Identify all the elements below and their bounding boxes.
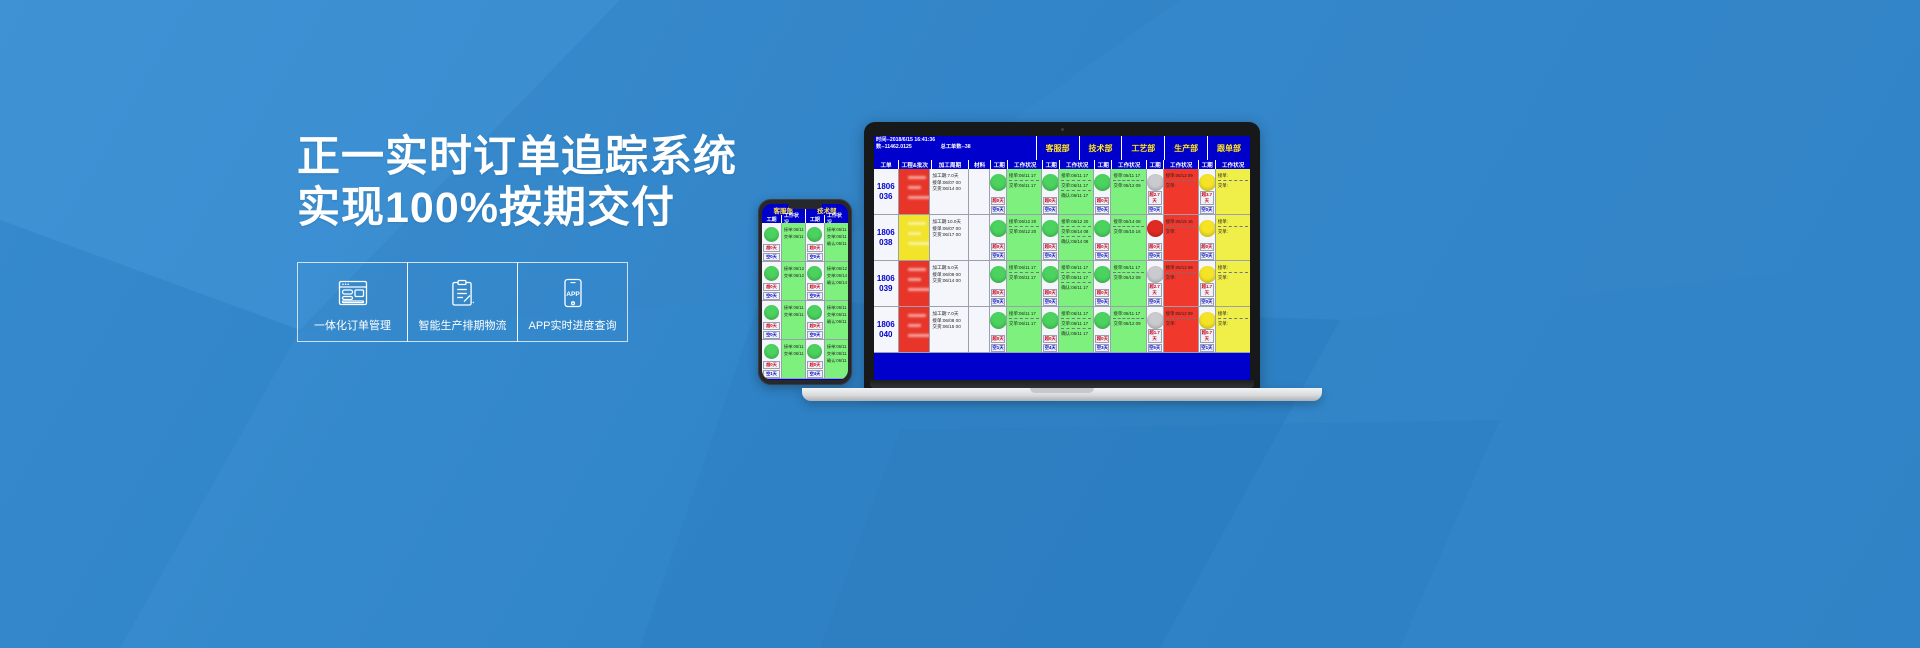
headline-line-2: 实现100%按期交付 <box>297 183 717 234</box>
phone-dept-1-status-cell[interactable]: 接单:06/11 17交单:06/11 17确认:06/11 17 <box>824 301 848 339</box>
status-dot-icon <box>1147 174 1163 191</box>
idle-badge: 空0天 <box>1043 206 1057 214</box>
overdue-badge: 超0天 <box>1043 243 1057 251</box>
headline-line-1: 正一实时订单追踪系统 <box>297 132 717 183</box>
phone-subcol-st-1: 工作状况 <box>824 215 848 223</box>
idle-badge: 空1天 <box>991 344 1005 352</box>
duration-tags: 超0天空0天 <box>990 289 1006 307</box>
status-line-2: 确认:06/14 08 <box>827 279 846 286</box>
board-header: 时间--2018/6/15 16:41:36 数--11462.0125 总工单… <box>874 136 1250 160</box>
status-line-1: 交单:06/11 17 <box>1009 274 1039 281</box>
project-batch-cell <box>898 215 930 260</box>
status-divider <box>1061 272 1091 273</box>
overdue-badge: 超0天 <box>763 244 780 252</box>
dept-3-duration-cell: 超0天空0天 <box>1146 215 1163 260</box>
overdue-badge: 超1.7天 <box>1148 329 1162 343</box>
board-subcol-0: 工单 <box>874 160 898 169</box>
overdue-badge: 超3.7天 <box>1200 191 1214 205</box>
status-dot-icon <box>1199 174 1215 191</box>
phone-screen: 客服部 技术部 工期 工作状况 工期 工作状况 超0天空0天接单:06/11 1… <box>762 204 848 380</box>
work-order-prefix: 1806 <box>877 274 895 284</box>
overdue-badge: 超0天 <box>1200 243 1214 251</box>
cycle-line-2: 交货:06/17 00 <box>932 232 965 239</box>
status-line-1: 交单: <box>1166 320 1196 327</box>
status-dot-icon <box>990 220 1006 237</box>
status-line-0: 接单:06/11 17 <box>1061 264 1091 271</box>
material-cell <box>968 169 989 214</box>
status-line-0: 接单:06/11 17 <box>1009 310 1039 317</box>
status-line-2: 确认:06/11 17 <box>827 357 846 364</box>
phone-dept-0-status-cell[interactable]: 接单:06/11 17交单:06/11 17 <box>781 340 805 378</box>
dept-0-status-cell[interactable]: 接单:06/12 20交单:06/12 20 <box>1006 215 1041 260</box>
dept-4-status-cell[interactable]: 接单:交单: <box>1215 307 1250 352</box>
status-line-2: 确认:06/14 08 <box>1061 238 1091 245</box>
duration-tags: 超1.7天空0天 <box>1199 283 1215 307</box>
overdue-badge: 超2.7天 <box>1148 191 1162 205</box>
work-order-suffix: 038 <box>879 238 892 248</box>
phone-subcol-gq-1: 工期 <box>805 215 824 223</box>
status-line-1: 交单: <box>1218 274 1248 281</box>
status-divider <box>1113 272 1143 273</box>
status-dot-icon <box>1147 266 1163 283</box>
redacted-text-icon <box>899 261 930 306</box>
phone-app-icon: APP <box>562 276 584 310</box>
dept-header-customer-service: 客服部 <box>1036 136 1079 160</box>
board-dept-4-sub-1: 工作状况 <box>1215 160 1250 169</box>
idle-badge: 空0天 <box>763 253 780 261</box>
dept-3-duration-cell: 超1.7天空5天 <box>1146 307 1163 352</box>
status-line-0: 接单:06/14 08 <box>1113 218 1143 225</box>
overdue-badge: 超0天 <box>991 243 1005 251</box>
phone-row[interactable]: 超0天空0天接单:06/11 17交单:06/11 17超0天空0天接单:06/… <box>762 223 848 262</box>
board-dept-2-sub-1: 工作状况 <box>1111 160 1146 169</box>
phone-dept-1-duration-cell: 超0天空0天 <box>805 301 824 339</box>
laptop-base <box>802 388 1322 401</box>
duration-tags: 超0天空0天 <box>762 283 781 301</box>
status-line-0: 接单:06/12 09 <box>1166 172 1196 179</box>
dept-2-duration-cell: 超0天空0天 <box>1093 261 1110 306</box>
dept-3-duration-cell: 超2.7天空0天 <box>1146 261 1163 306</box>
dept-0-duration-cell: 超0天空0天 <box>989 169 1006 214</box>
status-dot-icon <box>764 305 779 320</box>
duration-tags: 超3.7天空0天 <box>1199 191 1215 215</box>
dept-3-status-cell[interactable]: 接单:06/15 16交单: <box>1163 215 1198 260</box>
redacted-text-icon <box>899 169 930 214</box>
board-total-label: 总工单数--38 <box>941 144 971 150</box>
status-line-0: 接单:06/11 17 <box>1009 264 1039 271</box>
feature-card-app-progress[interactable]: APP APP实时进度查询 <box>517 262 628 342</box>
dept-2-duration-cell: 超0天空0天 <box>1093 169 1110 214</box>
idle-badge: 空0天 <box>991 298 1005 306</box>
status-dot-icon <box>990 266 1006 283</box>
status-line-0: 接单:06/12 20 <box>784 265 803 272</box>
status-divider <box>1009 272 1039 273</box>
dept-4-status-cell[interactable]: 接单:交单: <box>1215 169 1250 214</box>
board-dept-1-sub-1: 工作状况 <box>1059 160 1094 169</box>
phone-row[interactable]: 超0天空1天接单:06/11 17交单:06/11 17超0天空4天接单:06/… <box>762 340 848 379</box>
phone-dept-0-duration-cell: 超0天空0天 <box>762 223 781 261</box>
duration-tags: 超0天空0天 <box>806 244 824 262</box>
status-line-1: 交单:06/14 08 <box>1061 228 1091 235</box>
status-line-0: 接单:06/11 17 <box>827 226 846 233</box>
status-line-1: 交单:06/12 09 <box>1113 182 1143 189</box>
material-cell <box>968 215 989 260</box>
idle-badge: 空0天 <box>807 253 823 261</box>
dept-1-status-cell[interactable]: 接单:06/11 17交单:06/11 17确认:06/11 17 <box>1058 307 1093 352</box>
work-order-suffix: 036 <box>879 192 892 202</box>
status-dot-icon <box>807 344 822 359</box>
board-dept-0-sub-0: 工期 <box>990 160 1007 169</box>
phone-dept-0-status-cell[interactable]: 接单:06/11 17交单:06/11 17 <box>781 223 805 261</box>
duration-tags: 超0天空0天 <box>762 244 781 262</box>
status-line-1: 交单:06/11 17 <box>1061 274 1091 281</box>
status-divider <box>1009 226 1039 227</box>
phone-row[interactable]: 超0天空0天接单:06/11 17交单:06/11 17超0天空0天接单:06/… <box>762 301 848 340</box>
idle-badge: 空0天 <box>763 292 780 300</box>
duration-tags: 超0天空0天 <box>1094 289 1110 307</box>
status-line-1: 交单:06/11 17 <box>827 311 846 318</box>
phone-dept-1-duration-cell: 超0天空0天 <box>805 262 824 300</box>
dept-0-duration-cell: 超0天空1天 <box>989 307 1006 352</box>
dept-1-status-cell[interactable]: 接单:06/12 20交单:06/14 08确认:06/14 08 <box>1058 215 1093 260</box>
status-divider <box>1061 190 1091 191</box>
idle-badge: 空4天 <box>1043 344 1057 352</box>
idle-badge: 空0天 <box>1095 298 1109 306</box>
status-line-0: 接单:06/11 17 <box>1113 172 1143 179</box>
status-dot-icon <box>764 227 779 242</box>
dept-3-status-cell[interactable]: 接单:06/12 09交单: <box>1163 169 1198 214</box>
overdue-badge: 超0天 <box>763 283 780 291</box>
cycle-line-0: 加工期:7.0天 <box>932 173 965 180</box>
phone-body: 客服部 技术部 工期 工作状况 工期 工作状况 超0天空0天接单:06/11 1… <box>758 199 852 385</box>
duration-tags: 超0.7天空1天 <box>1199 329 1215 353</box>
status-dot-icon <box>1042 174 1058 191</box>
cycle-line-0: 加工期:10.0天 <box>932 219 965 226</box>
phone-notch <box>788 204 822 209</box>
work-order-prefix: 1806 <box>877 182 895 192</box>
material-cell <box>968 261 989 306</box>
duration-tags: 超0天空0天 <box>990 197 1006 215</box>
status-line-1: 交单:06/12 20 <box>784 272 803 279</box>
status-line-0: 接单: <box>1218 218 1248 225</box>
idle-badge: 空0天 <box>1148 252 1162 260</box>
idle-badge: 空0天 <box>1043 298 1057 306</box>
board-dept-3-sub-0: 工期 <box>1146 160 1163 169</box>
overdue-badge: 超0天 <box>991 197 1005 205</box>
phone-dept-1-status-cell[interactable]: 接单:06/12 20交单:06/14 08确认:06/14 08 <box>824 262 848 300</box>
status-line-1: 交单: <box>1166 182 1196 189</box>
dashboard-icon <box>338 276 368 310</box>
overdue-badge: 超0天 <box>991 335 1005 343</box>
idle-badge: 空0天 <box>1148 298 1162 306</box>
status-line-1: 交单:06/11 17 <box>827 233 846 240</box>
project-batch-cell <box>898 261 930 306</box>
dept-header-process: 工艺部 <box>1121 136 1164 160</box>
duration-tags: 超0天空3天 <box>1094 335 1110 353</box>
duration-tags: 超0天空4天 <box>806 361 824 379</box>
idle-badge: 空3天 <box>1095 344 1109 352</box>
overdue-badge: 超0天 <box>763 361 780 369</box>
idle-badge: 空4天 <box>807 370 823 378</box>
overdue-badge: 超0天 <box>1095 197 1109 205</box>
status-line-0: 接单:06/15 16 <box>1166 218 1196 225</box>
duration-tags: 超0天空0天 <box>1147 243 1163 261</box>
phone-dept-1-status-cell[interactable]: 接单:06/11 17交单:06/11 17确认:06/11 17 <box>824 340 848 378</box>
status-line-2: 确认:06/11 17 <box>1061 192 1091 199</box>
status-divider <box>1166 226 1196 227</box>
status-line-0: 接单:06/11 17 <box>827 343 846 350</box>
work-order-cell: 1806038 <box>874 215 898 260</box>
dept-1-duration-cell: 超0天空4天 <box>1041 307 1058 352</box>
idle-badge: 空0天 <box>991 252 1005 260</box>
overdue-badge: 超0天 <box>807 322 823 330</box>
status-line-0: 接单:06/12 20 <box>827 265 846 272</box>
dept-1-duration-cell: 超0天空0天 <box>1041 215 1058 260</box>
work-order-prefix: 1806 <box>877 320 895 330</box>
dept-4-duration-cell: 超0.7天空1天 <box>1198 307 1215 352</box>
status-line-2: 确认:06/11 17 <box>1061 284 1091 291</box>
status-divider <box>1218 318 1248 319</box>
dept-2-duration-cell: 超0天空0天 <box>1093 215 1110 260</box>
dept-3-duration-cell: 超2.7天空0天 <box>1146 169 1163 214</box>
status-line-1: 交单: <box>1166 228 1196 235</box>
status-dot-icon <box>807 305 822 320</box>
cycle-line-0: 加工期:5.0天 <box>932 265 965 272</box>
idle-badge: 空0天 <box>1095 252 1109 260</box>
board-subcol-3: 材料 <box>968 160 990 169</box>
phone-row[interactable]: 超0天空0天接单:06/12 20交单:06/12 20超0天空0天接单:06/… <box>762 262 848 301</box>
duration-tags: 超0天空0天 <box>806 283 824 301</box>
material-cell <box>968 307 989 352</box>
phone-subcol-gq-0: 工期 <box>762 215 781 223</box>
status-dot-icon <box>1094 174 1110 191</box>
status-line-1: 交单:06/11 17 <box>784 233 803 240</box>
duration-tags: 超0天空4天 <box>1042 335 1058 353</box>
processing-cycle-cell: 加工期:7.0天接单:06/07 00交货:06/14 00 <box>929 169 967 214</box>
cycle-line-2: 交货:06/14 00 <box>932 278 965 285</box>
status-dot-icon <box>1042 220 1058 237</box>
dept-1-duration-cell: 超0天空0天 <box>1041 169 1058 214</box>
phone-dept-1-status-cell[interactable]: 接单:06/11 17交单:06/11 17确认:06/11 17 <box>824 223 848 261</box>
duration-tags: 超0天空0天 <box>990 243 1006 261</box>
idle-badge: 空0天 <box>1200 298 1214 306</box>
redacted-text-icon <box>899 307 930 352</box>
idle-badge: 空0天 <box>807 331 823 339</box>
board-time-label: 时间--2018/6/15 16:41:36 <box>876 137 1034 144</box>
status-line-1: 交单:06/11 17 <box>784 311 803 318</box>
dept-2-status-cell[interactable]: 接单:06/11 17交单:06/12 09 <box>1110 261 1145 306</box>
status-divider <box>1009 180 1039 181</box>
overdue-badge: 超0天 <box>1043 289 1057 297</box>
dept-0-duration-cell: 超0天空0天 <box>989 215 1006 260</box>
status-dot-icon <box>764 344 779 359</box>
status-divider <box>1061 180 1091 181</box>
status-line-1: 交单:06/12 20 <box>1009 228 1039 235</box>
dept-0-status-cell[interactable]: 接单:06/11 17交单:06/11 17 <box>1006 307 1041 352</box>
status-dot-icon <box>990 174 1006 191</box>
idle-badge: 空0天 <box>763 331 780 339</box>
dept-1-status-cell[interactable]: 接单:06/11 17交单:06/11 17确认:06/11 17 <box>1058 261 1093 306</box>
idle-badge: 空0天 <box>1043 252 1057 260</box>
status-line-0: 接单:06/12 09 <box>1166 310 1196 317</box>
feature-label: 智能生产排期物流 <box>419 317 507 333</box>
redacted-text-icon <box>899 215 930 260</box>
overdue-badge: 超0天 <box>991 289 1005 297</box>
status-line-0: 接单: <box>1218 264 1248 271</box>
status-line-0: 接单:06/11 17 <box>784 304 803 311</box>
idle-badge: 空1天 <box>1200 344 1214 352</box>
feature-card-order-management[interactable]: 一体化订单管理 <box>297 262 408 342</box>
status-line-0: 接单: <box>1218 172 1248 179</box>
dept-4-duration-cell: 超3.7天空0天 <box>1198 169 1215 214</box>
status-line-0: 接单:06/11 17 <box>1113 264 1143 271</box>
status-line-0: 接单:06/12 20 <box>1009 218 1039 225</box>
duration-tags: 超1.7天空5天 <box>1147 329 1163 353</box>
phone-dept-0-status-cell[interactable]: 接单:06/12 20交单:06/12 20 <box>781 262 805 300</box>
phone-subheader: 工期 工作状况 工期 工作状况 <box>762 215 848 223</box>
status-line-0: 接单:06/11 17 <box>1113 310 1143 317</box>
dept-2-status-cell[interactable]: 接单:06/14 08交单:06/15 16 <box>1110 215 1145 260</box>
dept-4-status-cell[interactable]: 接单:交单: <box>1215 215 1250 260</box>
status-line-1: 交单:06/14 08 <box>827 272 846 279</box>
dept-1-duration-cell: 超0天空0天 <box>1041 261 1058 306</box>
status-line-1: 交单:06/12 09 <box>1113 274 1143 281</box>
status-divider <box>1061 236 1091 237</box>
status-divider <box>1166 180 1196 181</box>
overdue-badge: 超0天 <box>1043 197 1057 205</box>
status-line-1: 交单: <box>1166 274 1196 281</box>
dept-3-status-cell[interactable]: 接单:06/12 09交单: <box>1163 307 1198 352</box>
hero-copy: 正一实时订单追踪系统 实现100%按期交付 <box>297 132 717 234</box>
status-line-0: 接单:06/11 17 <box>1009 172 1039 179</box>
status-dot-icon <box>990 312 1006 329</box>
status-divider <box>1061 318 1091 319</box>
board-subcol-1: 工程&批次 <box>898 160 930 169</box>
work-order-suffix: 039 <box>879 284 892 294</box>
phone-subcol-st-0: 工作状况 <box>781 215 805 223</box>
status-line-1: 交单:06/11 17 <box>784 350 803 357</box>
status-line-0: 接单:06/11 17 <box>784 226 803 233</box>
dept-4-duration-cell: 超0天空0天 <box>1198 215 1215 260</box>
board-dept-3-sub-1: 工作状况 <box>1163 160 1198 169</box>
status-dot-icon <box>764 266 779 281</box>
overdue-badge: 超0天 <box>763 322 780 330</box>
status-dot-icon <box>1094 312 1110 329</box>
svg-text:APP: APP <box>566 291 580 298</box>
duration-tags: 超0天空1天 <box>762 361 781 379</box>
status-dot-icon <box>1147 312 1163 329</box>
duration-tags: 超0天空0天 <box>1042 289 1058 307</box>
dept-3-status-cell[interactable]: 接单:06/12 09交单: <box>1163 261 1198 306</box>
project-batch-cell <box>898 307 930 352</box>
status-dot-icon <box>807 266 822 281</box>
duration-tags: 超0天空0天 <box>1042 197 1058 215</box>
dept-4-duration-cell: 超1.7天空0天 <box>1198 261 1215 306</box>
status-dot-icon <box>1094 266 1110 283</box>
overdue-badge: 超0天 <box>807 361 823 369</box>
order-tracking-board: 时间--2018/6/15 16:41:36 数--11462.0125 总工单… <box>874 136 1250 353</box>
duration-tags: 超2.7天空0天 <box>1147 283 1163 307</box>
clipboard-icon <box>450 276 476 310</box>
status-line-2: 确认:06/11 17 <box>827 318 846 325</box>
idle-badge: 空1天 <box>763 370 780 378</box>
status-line-1: 交单:06/12 09 <box>1113 320 1143 327</box>
status-divider <box>1061 328 1091 329</box>
status-divider <box>1061 226 1091 227</box>
duration-tags: 超0天空0天 <box>1042 243 1058 261</box>
idle-badge: 空0天 <box>1148 206 1162 214</box>
status-divider <box>1113 226 1143 227</box>
overdue-badge: 超0天 <box>1043 335 1057 343</box>
status-line-2: 确认:06/11 17 <box>1061 330 1091 337</box>
feature-card-production-scheduling[interactable]: 智能生产排期物流 <box>407 262 518 342</box>
board-count-label: 数--11462.0125 <box>876 144 912 150</box>
dept-4-status-cell[interactable]: 接单:交单: <box>1215 261 1250 306</box>
board-row[interactable]: 1806036加工期:7.0天接单:06/07 00交货:06/14 00超0天… <box>874 169 1250 215</box>
idle-badge: 空0天 <box>1095 206 1109 214</box>
dept-1-status-cell[interactable]: 接单:06/11 17交单:06/11 17确认:06/11 17 <box>1058 169 1093 214</box>
duration-tags: 超2.7天空0天 <box>1147 191 1163 215</box>
status-line-0: 接单:06/11 17 <box>1061 172 1091 179</box>
phone-dept-0-status-cell[interactable]: 接单:06/11 17交单:06/11 17 <box>781 301 805 339</box>
phone-dept-0-duration-cell: 超0天空1天 <box>762 340 781 378</box>
overdue-badge: 超0天 <box>1095 243 1109 251</box>
status-divider <box>1009 318 1039 319</box>
work-order-cell: 1806036 <box>874 169 898 214</box>
status-dot-icon <box>1199 312 1215 329</box>
board-row[interactable]: 1806039加工期:5.0天接单:06/09 00交货:06/14 00超0天… <box>874 261 1250 307</box>
overdue-badge: 超0天 <box>1095 289 1109 297</box>
status-line-0: 接单:06/11 17 <box>1061 310 1091 317</box>
board-row[interactable]: 1806040加工期:7.0天接单:06/08 00交货:06/15 00超0天… <box>874 307 1250 353</box>
duration-tags: 超0天空0天 <box>1199 243 1215 261</box>
board-dept-4-sub-0: 工期 <box>1198 160 1215 169</box>
feature-label: APP实时进度查询 <box>528 317 616 333</box>
board-dept-0-sub-1: 工作状况 <box>1007 160 1042 169</box>
status-divider <box>1218 272 1248 273</box>
status-line-0: 接单:06/11 17 <box>784 343 803 350</box>
laptop-screen: 时间--2018/6/15 16:41:36 数--11462.0125 总工单… <box>874 136 1250 380</box>
overdue-badge: 超0.7天 <box>1200 329 1214 343</box>
dept-0-status-cell[interactable]: 接单:06/11 17交单:06/11 17 <box>1006 261 1041 306</box>
status-line-0: 接单:06/12 09 <box>1166 264 1196 271</box>
status-line-0: 接单:06/12 20 <box>1061 218 1091 225</box>
board-dept-1-sub-0: 工期 <box>1042 160 1059 169</box>
dept-2-status-cell[interactable]: 接单:06/11 17交单:06/12 09 <box>1110 169 1145 214</box>
status-dot-icon <box>1199 220 1215 237</box>
cycle-line-2: 交货:06/15 00 <box>932 324 965 331</box>
dept-2-status-cell[interactable]: 接单:06/11 17交单:06/12 09 <box>1110 307 1145 352</box>
dept-0-status-cell[interactable]: 接单:06/11 17交单:06/11 17 <box>1006 169 1041 214</box>
cycle-line-2: 交货:06/14 00 <box>932 186 965 193</box>
feature-label: 一体化订单管理 <box>314 317 391 333</box>
processing-cycle-cell: 加工期:5.0天接单:06/09 00交货:06/14 00 <box>929 261 967 306</box>
phone-dept-0-duration-cell: 超0天空0天 <box>762 262 781 300</box>
board-row[interactable]: 1806038加工期:10.0天接单:06/07 00交货:06/17 00超0… <box>874 215 1250 261</box>
overdue-badge: 超0天 <box>807 244 823 252</box>
status-line-1: 交单:06/11 17 <box>827 350 846 357</box>
board-header-meta: 时间--2018/6/15 16:41:36 数--11462.0125 总工单… <box>874 136 1036 160</box>
feature-list: 一体化订单管理 智能生产排期物流 APP AP <box>297 262 627 342</box>
idle-badge: 空0天 <box>807 292 823 300</box>
status-dot-icon <box>807 227 822 242</box>
board-subheader: 工单工程&批次加工周期材料工期工作状况工期工作状况工期工作状况工期工作状况工期工… <box>874 160 1250 169</box>
processing-cycle-cell: 加工期:7.0天接单:06/08 00交货:06/15 00 <box>929 307 967 352</box>
phone-dept-1-duration-cell: 超0天空0天 <box>805 223 824 261</box>
status-dot-icon <box>1042 266 1058 283</box>
status-line-1: 交单:06/11 17 <box>1061 182 1091 189</box>
duration-tags: 超0天空0天 <box>762 322 781 340</box>
